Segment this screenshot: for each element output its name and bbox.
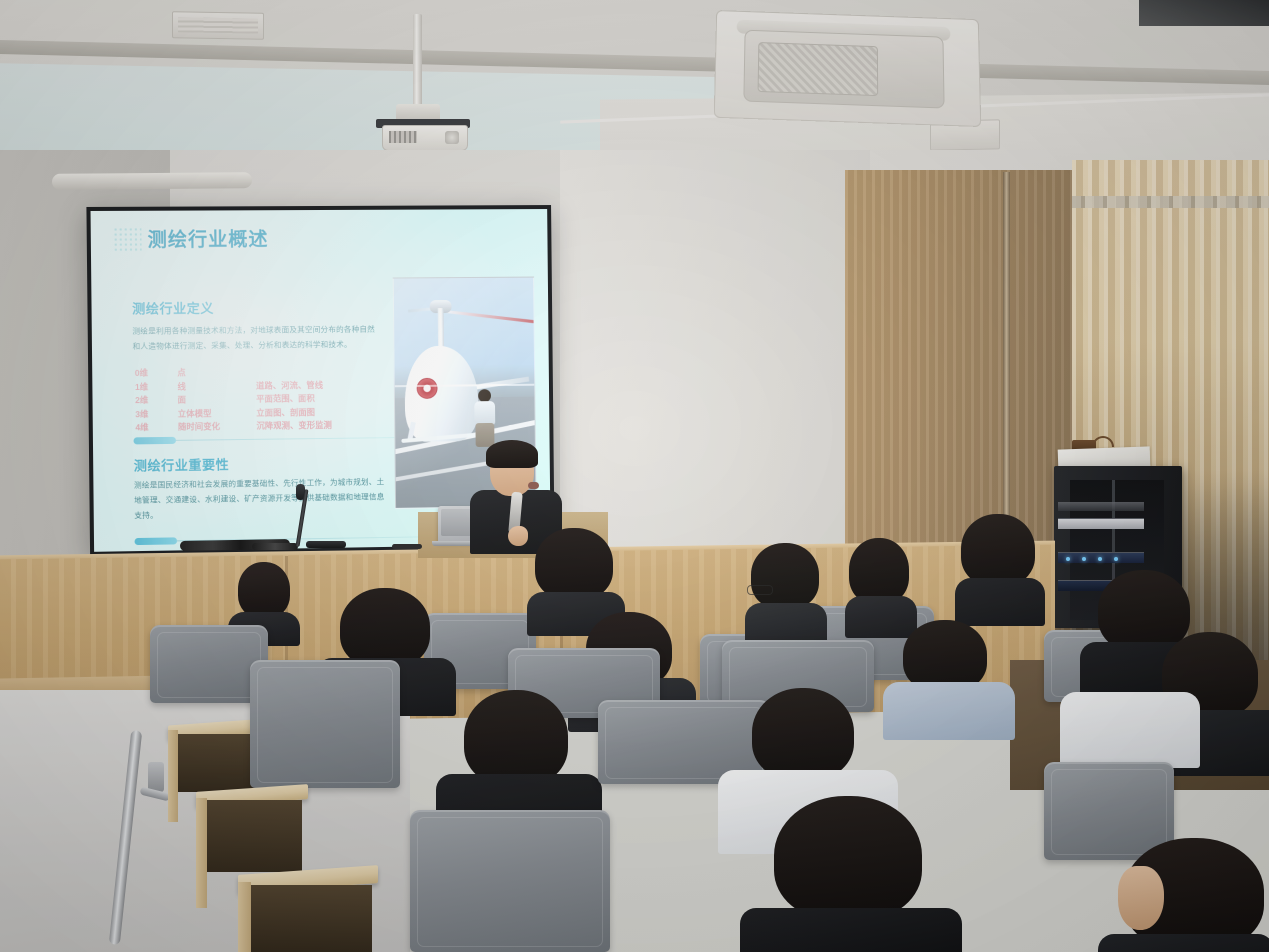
list-item <box>1060 640 1176 760</box>
slide-section-body-definition: 测绘是利用各种测量技术和方法，对地球表面及其空间分布的各种自然和人造物体进行测定… <box>132 323 378 355</box>
helicopter-fuselage <box>404 346 478 442</box>
projector-lens-icon <box>445 131 459 144</box>
audience-member-11-body <box>1060 692 1200 768</box>
dim-cell-examples: 道路、河流、管线 <box>256 378 386 393</box>
audience-member-1-head <box>238 562 290 618</box>
dim-cell-dim: 2维 <box>135 394 178 408</box>
desk-underside <box>206 800 302 872</box>
dim-cell-type: 点 <box>177 366 256 380</box>
seat[interactable] <box>250 660 400 788</box>
av-cables <box>252 543 298 550</box>
dim-cell-dim: 4维 <box>135 421 178 435</box>
dim-cell-type: 线 <box>177 379 256 394</box>
presenter-hair <box>486 440 538 468</box>
rack-unit-mixer <box>1058 552 1144 563</box>
projector-icon <box>382 125 468 151</box>
dim-cell-dim: 1维 <box>135 380 178 394</box>
ac-grille-icon <box>758 42 879 96</box>
list-item <box>527 528 625 624</box>
microphone-base <box>306 541 346 548</box>
handrail-mount-plate <box>148 762 164 792</box>
rack-led-icon <box>1098 557 1102 561</box>
audience-member-11b-head <box>752 688 854 780</box>
audience-member-4-head <box>849 538 909 604</box>
audience-member-3-body <box>745 603 827 645</box>
wall-pillar <box>560 150 870 570</box>
dim-cell-examples <box>256 364 386 379</box>
ceiling-vent-slot-icon <box>172 11 264 40</box>
accent-bar <box>135 537 178 545</box>
list-item <box>845 538 917 622</box>
ceiling-dark-corner <box>1139 0 1269 26</box>
helicopter-emblem-icon <box>417 378 438 399</box>
presenter-hand <box>508 526 528 546</box>
technician-torso <box>474 401 495 425</box>
dim-cell-dim: 3维 <box>135 407 178 421</box>
lecture-hall-photo: 测绘行业概述 测绘行业定义 测绘是利用各种测量技术和方法，对地球表面及其空间分布… <box>0 0 1269 952</box>
dim-cell-type: 面 <box>178 393 257 408</box>
audience-member-3-head <box>751 543 819 609</box>
audience-member-6-head <box>340 588 430 668</box>
glasses-icon <box>747 585 773 595</box>
dim-cell-type: 立体模型 <box>178 407 257 422</box>
list-item <box>745 543 827 631</box>
desk-leg <box>238 882 251 952</box>
slide-dimension-table: 0维 点 1维 线 道路、河流、管线 2维 面 平面范围、面积 3维 立体模型 <box>135 364 387 435</box>
air-conditioner-unit <box>714 10 982 127</box>
list-item <box>228 562 300 632</box>
av-cables <box>392 544 422 549</box>
slide-section-heading-importance: 测绘行业重要性 <box>134 454 230 474</box>
slide-section-body-importance: 测绘是国民经济和社会发展的重要基础性、先行性工作，为城市规划、土地管理、交通建设… <box>134 475 385 523</box>
list-item <box>955 514 1045 620</box>
audience-member-10-head <box>464 690 568 786</box>
list-item <box>895 620 999 724</box>
list-item <box>1118 866 1170 936</box>
dim-cell-dim: 0维 <box>135 366 178 380</box>
audience-member-5-head <box>961 514 1035 586</box>
screen-roller-casing <box>52 172 252 190</box>
audience-member-8-body <box>883 682 1015 740</box>
dim-cell-type: 随时间变化 <box>178 420 257 435</box>
audience-member-13-head <box>774 796 922 920</box>
rack-led-icon <box>1082 557 1086 561</box>
audience-member-5-body <box>955 578 1045 626</box>
audience-member-14-body <box>1098 934 1269 952</box>
rack-unit-amplifier <box>1058 518 1144 529</box>
dot-grid-decoration-icon <box>113 227 142 253</box>
rack-shelf <box>1058 502 1144 511</box>
rack-led-icon <box>1114 557 1118 561</box>
desk-underside <box>250 885 372 952</box>
presenter-mouth <box>528 482 539 489</box>
rack-led-icon <box>1066 557 1070 561</box>
slide-title: 测绘行业概述 <box>147 224 268 252</box>
curtain-rail <box>1072 196 1269 208</box>
audience-member-2-head <box>535 528 613 600</box>
desk-leg <box>168 730 178 822</box>
rotor-blade-icon <box>445 310 536 323</box>
projector-pole <box>413 14 422 112</box>
list-item <box>760 796 940 952</box>
dim-cell-examples: 沉降观测、变形监测 <box>256 419 386 434</box>
audience-member-13-body <box>740 908 962 952</box>
desk-leg <box>196 798 207 908</box>
slide-section-heading-definition: 测绘行业定义 <box>132 298 214 318</box>
audience-member-14-hand <box>1118 866 1164 930</box>
table-row: 4维 随时间变化 沉降观测、变形监测 <box>135 419 386 436</box>
seat[interactable] <box>410 810 610 952</box>
accent-bar <box>133 437 176 445</box>
